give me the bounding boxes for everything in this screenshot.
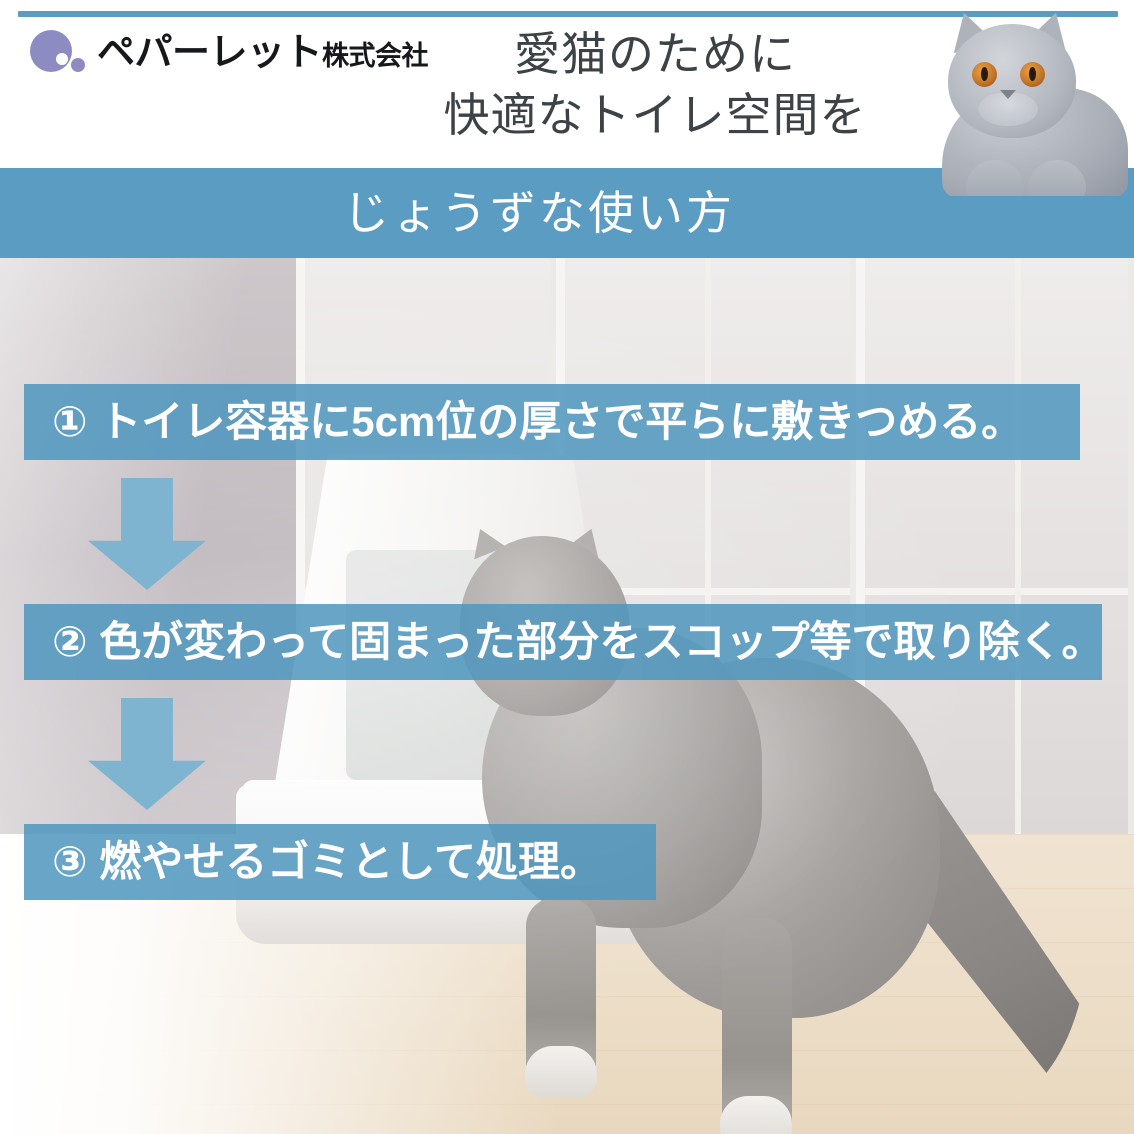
steps-overlay: ① トイレ容器に5cm位の厚さで平らに敷きつめる。 ② 色が変わって固まった部分… — [0, 0, 1134, 1134]
step-bar-1: ① トイレ容器に5cm位の厚さで平らに敷きつめる。 — [24, 384, 1080, 460]
arrow-down-icon-2 — [88, 698, 206, 810]
infographic-poster: ペパーレット株式会社 愛猫のために 快適なトイレ空間を じょうずな使い方 — [0, 0, 1134, 1134]
step-2-text: ② 色が変わって固まった部分をスコップ等で取り除く。 — [52, 621, 1103, 663]
step-1-text: ① トイレ容器に5cm位の厚さで平らに敷きつめる。 — [52, 401, 1023, 443]
step-bar-3: ③ 燃やせるゴミとして処理。 — [24, 824, 656, 900]
step-bar-2: ② 色が変わって固まった部分をスコップ等で取り除く。 — [24, 604, 1102, 680]
arrow-down-icon-1 — [88, 478, 206, 590]
step-3-text: ③ 燃やせるゴミとして処理。 — [52, 841, 602, 883]
